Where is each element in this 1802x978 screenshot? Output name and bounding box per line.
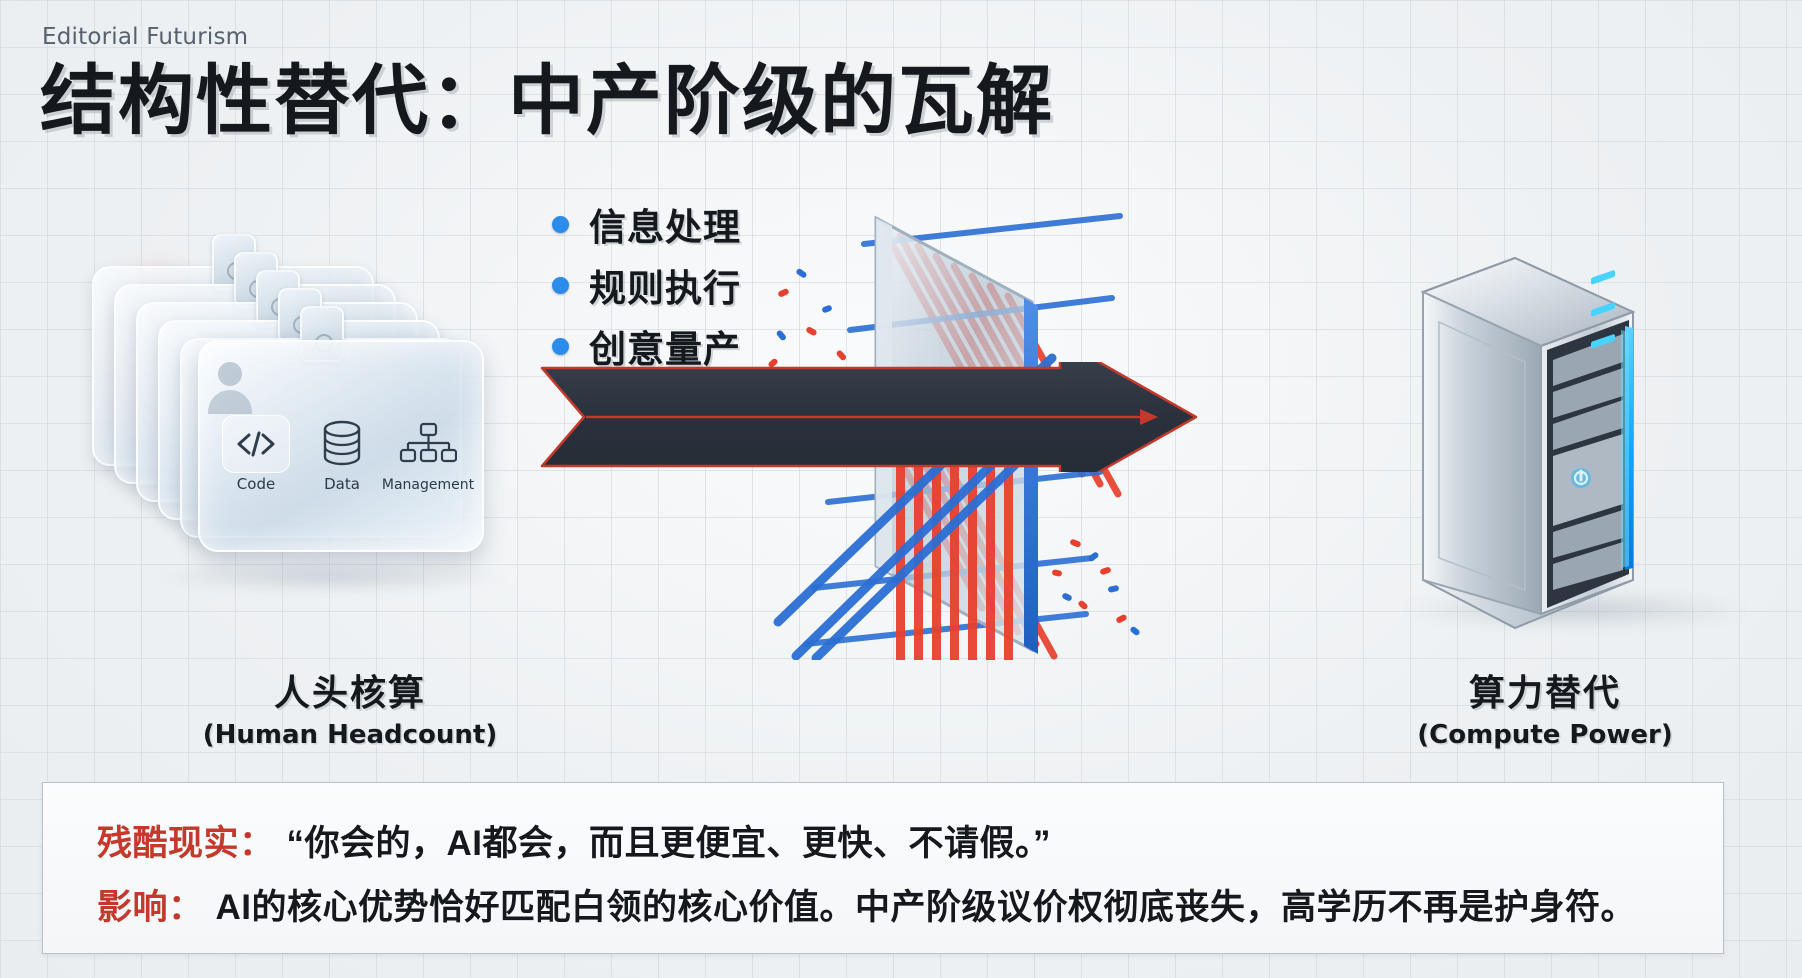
power-led-icon (1571, 468, 1591, 488)
key-takeaway-box: 残酷现实：“你会的，AI都会，而且更便宜、更快、不请假。” 影响：AI的核心优势… (42, 782, 1724, 954)
caption-left-cn: 人头核算 (140, 664, 560, 716)
skill-label: Management (382, 477, 474, 493)
note-line-impact: 影响：AI的核心优势恰好匹配白领的核心价值。中产阶级议价权彻底丧失，高学历不再是… (97, 879, 1636, 930)
bullet-dot-icon (552, 277, 569, 294)
badge-skill-data: Data (302, 416, 382, 493)
server-tower-icon (1405, 250, 1725, 630)
caption-right-cn: 算力替代 (1335, 664, 1755, 716)
caption-right: 算力替代 (Compute Power) (1335, 664, 1755, 750)
caption-left-en: (Human Headcount) (140, 720, 560, 750)
badge-skill-code: Code (216, 416, 296, 493)
note-lead-impact: 影响： (97, 888, 204, 927)
note-line-reality: 残酷现实：“你会的，AI都会，而且更便宜、更快、不请假。” (97, 815, 1051, 866)
note-lead-reality: 残酷现实： (97, 824, 275, 863)
note-body-reality: “你会的，AI都会，而且更便宜、更快、不请假。” (287, 824, 1052, 863)
bullet-dot-icon (552, 338, 569, 355)
caption-right-en: (Compute Power) (1335, 720, 1755, 750)
front-id-badge: Code Data (198, 340, 484, 552)
skill-label: Code (237, 475, 275, 493)
code-icon (222, 416, 290, 472)
note-body-impact: AI的核心优势恰好匹配白领的核心价值。中产阶级议价权彻底丧失，高学历不再是护身符… (216, 888, 1637, 927)
substitution-arrow (540, 362, 1200, 477)
caption-left: 人头核算 (Human Headcount) (140, 664, 560, 750)
badge-skill-management: Management (388, 418, 468, 493)
org-chart-icon (399, 418, 457, 474)
database-icon (319, 416, 365, 472)
page-title: 结构性替代：中产阶级的瓦解 (40, 58, 1054, 145)
bullet-dot-icon (552, 216, 569, 233)
slide-canvas: Editorial Futurism 结构性替代：中产阶级的瓦解 信息处理 规则… (0, 0, 1802, 978)
skill-label: Data (324, 475, 360, 493)
person-avatar-icon (218, 362, 252, 414)
eyebrow-label: Editorial Futurism (42, 24, 248, 50)
